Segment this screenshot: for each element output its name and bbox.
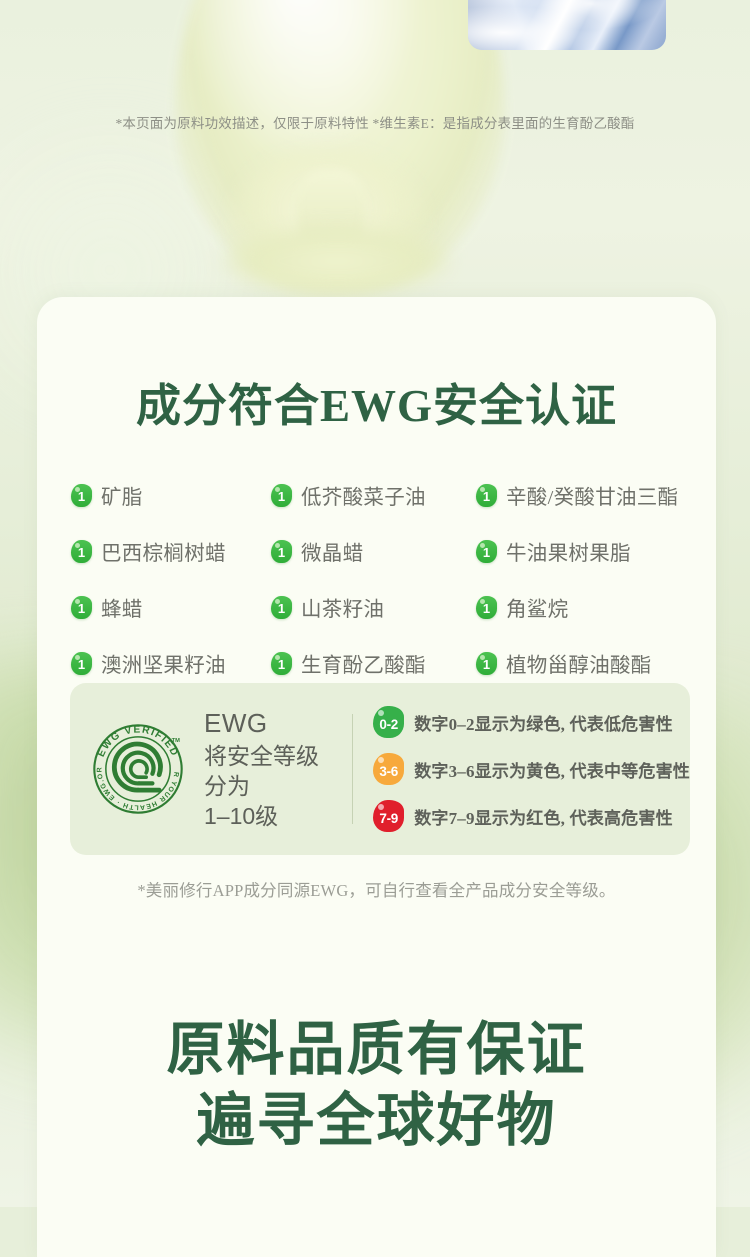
- ingredient-name: 巴西棕榈树蜡: [101, 536, 226, 566]
- legend-row: 7-9 数字7–9显示为红色, 代表高危害性: [373, 800, 690, 832]
- ewg-verified-seal-icon: EWG VERIFIED FOR YOUR HEALTH · EWG.ORG T…: [90, 721, 186, 817]
- legend-row: 3-6 数字3–6显示为黄色, 代表中等危害性: [373, 753, 690, 785]
- ingredient-name: 辛酸/癸酸甘油三酯: [506, 480, 678, 510]
- bottom-slogan: 原料品质有保证 遍寻全球好物: [37, 1015, 716, 1157]
- ewg-score-icon: 1: [271, 540, 292, 563]
- ewg-score-icon: 1: [71, 484, 92, 507]
- legend-rows: 0-2 数字0–2显示为绿色, 代表低危害性 3-6 数字3–6显示为黄色, 代…: [373, 706, 690, 832]
- legend-row: 0-2 数字0–2显示为绿色, 代表低危害性: [373, 706, 690, 738]
- ingredient-item: 1 角鲨烷: [476, 592, 690, 622]
- ingredient-name: 角鲨烷: [506, 592, 568, 622]
- water-ice-image: [468, 0, 666, 50]
- svg-text:TM: TM: [172, 738, 181, 744]
- ingredient-item: 1 植物甾醇油酸酯: [476, 648, 690, 678]
- ingredient-item: 1 辛酸/癸酸甘油三酯: [476, 480, 690, 510]
- ingredient-item: 1 微晶蜡: [271, 536, 476, 566]
- ingredient-item: 1 矿脂: [71, 480, 271, 510]
- ingredient-item: 1 生育酚乙酸酯: [271, 648, 476, 678]
- page-disclaimer: *本页面为原料功效描述，仅限于原料特性 *维生素E：是指成分表里面的生育酚乙酸酯: [0, 112, 750, 132]
- ewg-scale-line3: 1–10级: [204, 801, 328, 831]
- ingredient-item: 1 澳洲坚果籽油: [71, 648, 271, 678]
- ingredient-name: 山茶籽油: [301, 592, 384, 622]
- ewg-card: 成分符合EWG安全认证 1 矿脂 1 低芥酸菜子油 1 辛酸/癸酸甘油三酯 1 …: [37, 297, 716, 1257]
- ewg-score-icon: 1: [476, 484, 497, 507]
- ewg-score-icon: 1: [71, 652, 92, 675]
- ingredient-name: 矿脂: [101, 480, 143, 510]
- ewg-score-icon: 1: [271, 596, 292, 619]
- risk-badge-high-icon: 7-9: [373, 800, 404, 832]
- ingredient-name: 低芥酸菜子油: [301, 480, 426, 510]
- ewg-score-icon: 1: [476, 540, 497, 563]
- ingredient-item: 1 巴西棕榈树蜡: [71, 536, 271, 566]
- ingredient-grid: 1 矿脂 1 低芥酸菜子油 1 辛酸/癸酸甘油三酯 1 巴西棕榈树蜡 1 微晶蜡…: [37, 480, 716, 678]
- legend-row-text: 数字3–6显示为黄色, 代表中等危害性: [414, 757, 690, 782]
- ewg-legend-box: EWG VERIFIED FOR YOUR HEALTH · EWG.ORG T…: [70, 683, 690, 855]
- app-footnote: *美丽修行APP成分同源EWG，可自行查看全产品成分安全等级。: [37, 877, 716, 901]
- ewg-scale-description: EWG 将安全等级分为 1–10级: [204, 706, 328, 831]
- ingredient-item: 1 山茶籽油: [271, 592, 476, 622]
- ingredient-name: 微晶蜡: [301, 536, 363, 566]
- slogan-line-1: 原料品质有保证: [37, 1015, 716, 1086]
- legend-row-text: 数字7–9显示为红色, 代表高危害性: [414, 804, 673, 829]
- ingredient-item: 1 牛油果树果脂: [476, 536, 690, 566]
- ewg-score-icon: 1: [476, 596, 497, 619]
- ewg-score-icon: 1: [71, 540, 92, 563]
- ingredient-item: 1 蜂蜡: [71, 592, 271, 622]
- ingredient-name: 蜂蜡: [101, 592, 143, 622]
- slogan-line-2: 遍寻全球好物: [37, 1086, 716, 1157]
- ewg-score-icon: 1: [71, 596, 92, 619]
- ingredient-item: 1 低芥酸菜子油: [271, 480, 476, 510]
- oil-pool-image: [222, 226, 452, 296]
- ingredient-name: 牛油果树果脂: [506, 536, 631, 566]
- ingredient-name: 澳洲坚果籽油: [101, 648, 226, 678]
- ewg-score-icon: 1: [271, 652, 292, 675]
- ingredient-name: 植物甾醇油酸酯: [506, 648, 652, 678]
- legend-divider: [352, 714, 354, 824]
- ewg-scale-line2: 将安全等级分为: [204, 741, 328, 802]
- risk-badge-medium-icon: 3-6: [373, 753, 404, 785]
- card-title: 成分符合EWG安全认证: [37, 369, 716, 434]
- legend-row-text: 数字0–2显示为绿色, 代表低危害性: [414, 710, 673, 735]
- ewg-score-icon: 1: [476, 652, 497, 675]
- ingredient-name: 生育酚乙酸酯: [301, 648, 426, 678]
- risk-badge-low-icon: 0-2: [373, 706, 404, 738]
- ewg-label: EWG: [204, 706, 328, 740]
- ewg-score-icon: 1: [271, 484, 292, 507]
